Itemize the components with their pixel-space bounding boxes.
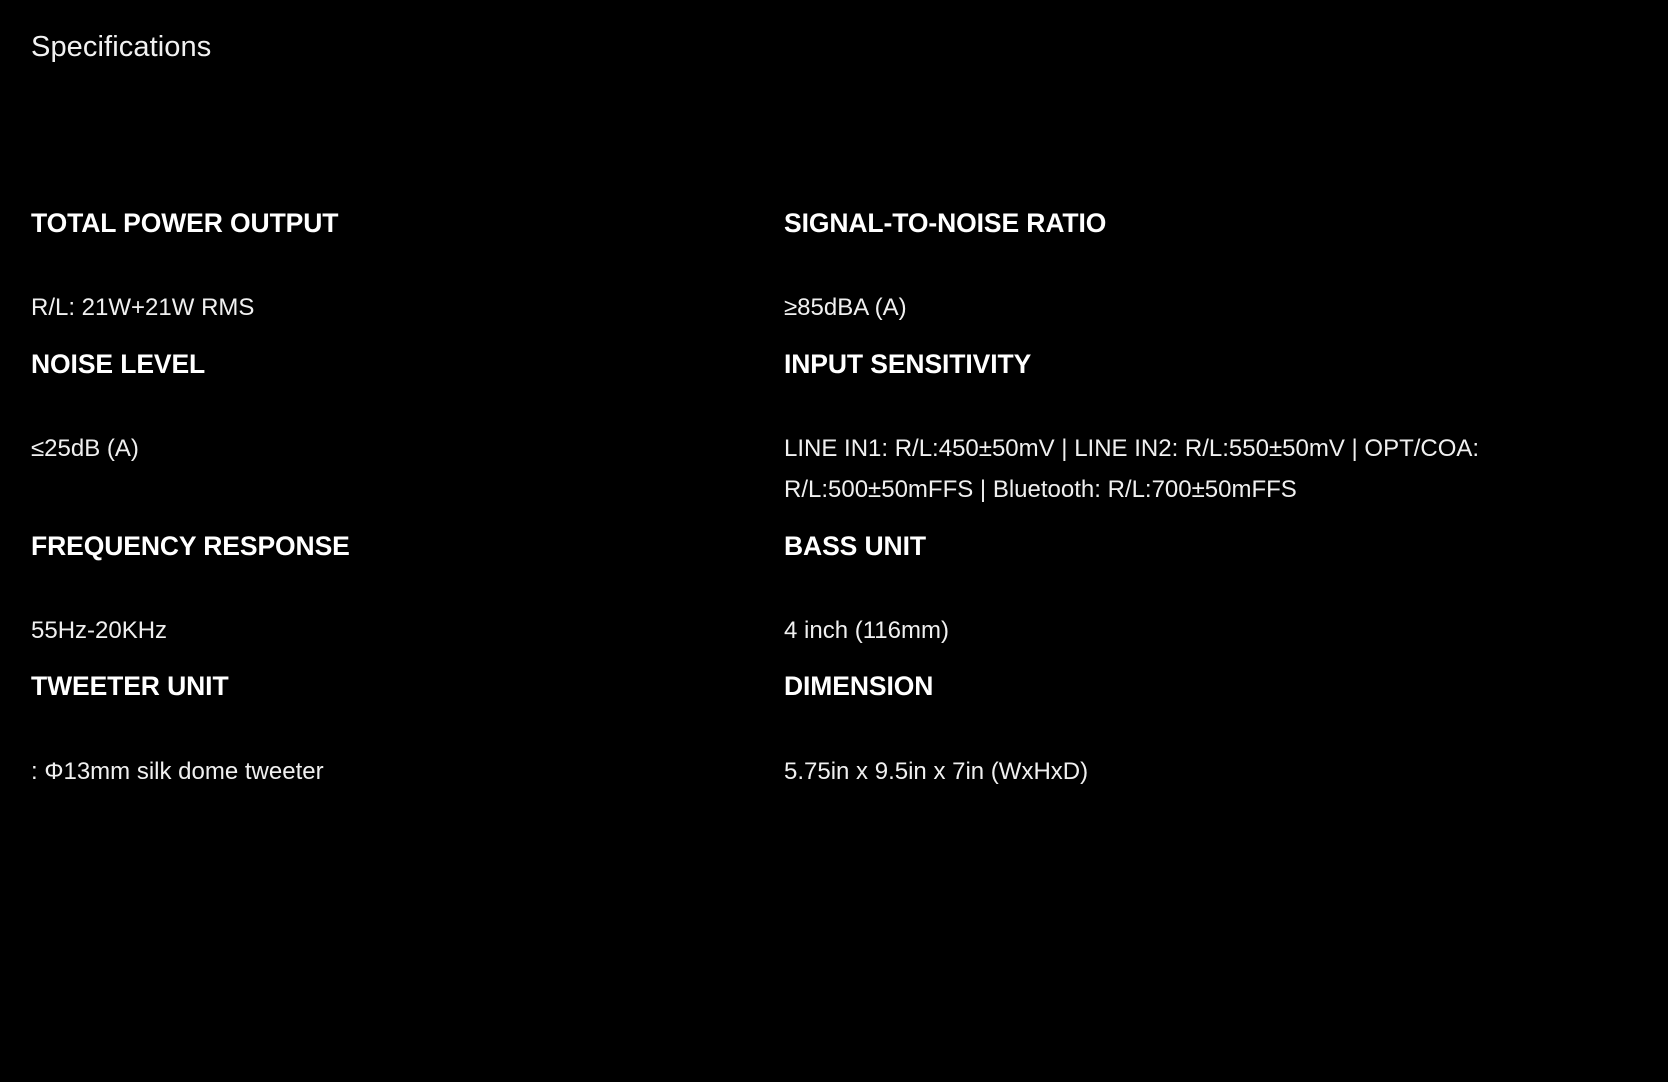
spec-item-tweeter-unit: TWEETER UNIT : Φ13mm silk dome tweeter — [0, 651, 753, 792]
page-title: Specifications — [31, 30, 211, 65]
spec-value: 4 inch (116mm) — [784, 561, 1574, 651]
spec-item-signal-to-noise-ratio: SIGNAL-TO-NOISE RATIO ≥85dBA (A) — [753, 188, 1653, 329]
spec-value: R/L: 21W+21W RMS — [31, 238, 722, 328]
spec-label: BASS UNIT — [784, 511, 1622, 561]
spec-label: FREQUENCY RESPONSE — [31, 511, 722, 561]
spec-value: ≥85dBA (A) — [784, 238, 1574, 328]
spec-value: ≤25dB (A) — [31, 379, 722, 469]
spec-value: 55Hz-20KHz — [31, 561, 722, 651]
spec-label: NOISE LEVEL — [31, 329, 722, 379]
spec-label: TWEETER UNIT — [31, 651, 722, 701]
spec-value: 5.75in x 9.5in x 7in (WxHxD) — [784, 702, 1574, 792]
spec-item-bass-unit: BASS UNIT 4 inch (116mm) — [753, 511, 1653, 652]
spec-label: TOTAL POWER OUTPUT — [31, 188, 722, 238]
spec-item-frequency-response: FREQUENCY RESPONSE 55Hz-20KHz — [0, 511, 753, 652]
specifications-page: Specifications TOTAL POWER OUTPUT R/L: 2… — [0, 0, 1668, 1082]
spec-item-total-power-output: TOTAL POWER OUTPUT R/L: 21W+21W RMS — [0, 188, 753, 329]
spec-label: DIMENSION — [784, 651, 1622, 701]
spec-label: INPUT SENSITIVITY — [784, 329, 1622, 379]
spec-item-dimension: DIMENSION 5.75in x 9.5in x 7in (WxHxD) — [753, 651, 1653, 792]
spec-value: LINE IN1: R/L:450±50mV | LINE IN2: R/L:5… — [784, 379, 1574, 511]
spec-label: SIGNAL-TO-NOISE RATIO — [784, 188, 1622, 238]
specifications-grid: TOTAL POWER OUTPUT R/L: 21W+21W RMS SIGN… — [0, 188, 1668, 792]
spec-value: : Φ13mm silk dome tweeter — [31, 702, 722, 792]
spec-item-input-sensitivity: INPUT SENSITIVITY LINE IN1: R/L:450±50mV… — [753, 329, 1653, 511]
spec-item-noise-level: NOISE LEVEL ≤25dB (A) — [0, 329, 753, 511]
